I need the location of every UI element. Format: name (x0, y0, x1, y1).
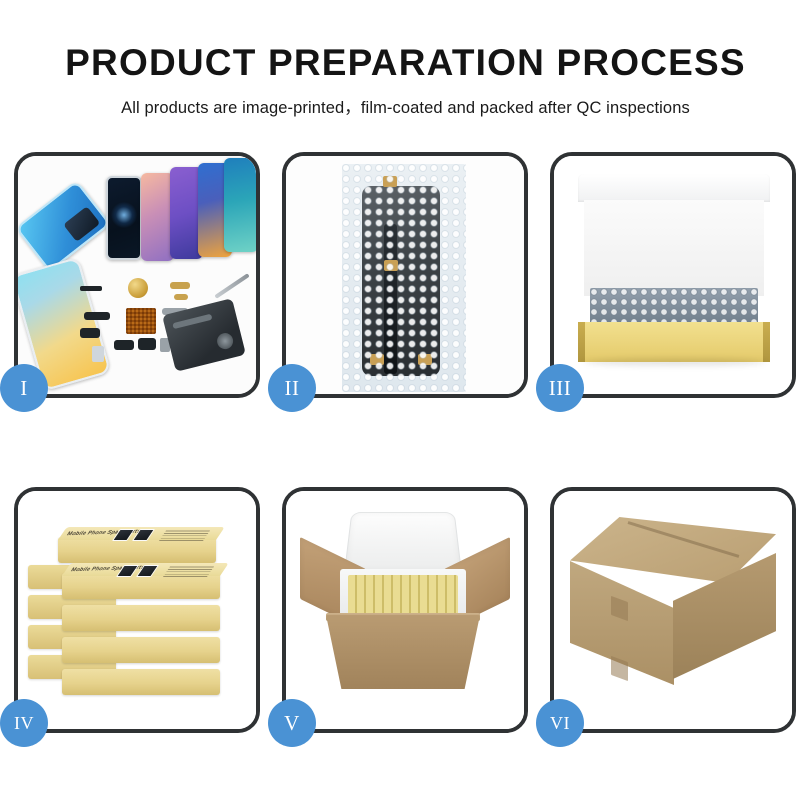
stacked-box-top: Mobile Phone Spare Parts (58, 537, 216, 563)
spare-parts-scene (18, 156, 256, 394)
bubble-wrap-bag (342, 164, 466, 392)
open-inner-box-scene (554, 156, 792, 394)
step-1-photo (18, 156, 256, 394)
screen-protector-blue (18, 180, 111, 272)
step-4-photo: Mobile Phone Spare Parts Mobile Phone Sp… (18, 491, 256, 729)
bubble-texture (342, 164, 466, 392)
flex-cable-part (80, 328, 100, 338)
stacked-box-second: Mobile Phone Spare Parts (62, 573, 220, 599)
gold-connector-part (170, 282, 190, 289)
box-shadow (584, 358, 766, 366)
step-2-photo (286, 156, 524, 394)
flex-cable-part (84, 312, 110, 320)
inner-boxes-contents (348, 575, 458, 617)
stacked-box-fifth (62, 669, 220, 695)
phone-screen-teal (224, 158, 256, 252)
sealed-carton-scene (554, 491, 792, 729)
step-badge-2: II (268, 364, 316, 412)
tweezers-tool (214, 273, 249, 299)
step-badge-3: III (536, 364, 584, 412)
process-step-panel-6[interactable]: VI (550, 487, 796, 733)
page-subtitle: All products are image-printed，film-coat… (0, 94, 811, 118)
bubble-wrap-contents (590, 288, 758, 326)
step-6-photo (554, 491, 792, 729)
bubble-wrap-scene (286, 156, 524, 394)
vibration-motor-part (128, 278, 148, 298)
foam-cooler-lid (344, 512, 462, 572)
page-title: PRODUCT PREPARATION PROCESS (0, 44, 811, 83)
step-badge-5: V (268, 699, 316, 747)
step-5-photo (286, 491, 524, 729)
product-preparation-page: PRODUCT PREPARATION PROCESS All products… (0, 0, 811, 811)
step-badge-6: VI (536, 699, 584, 747)
stacked-box-third (62, 605, 220, 631)
process-step-grid: I II (14, 152, 797, 733)
process-step-panel-3[interactable]: III (550, 152, 796, 398)
step-badge-4: IV (0, 699, 48, 747)
box-front-panel (578, 322, 770, 362)
sim-tray-part (92, 346, 104, 362)
process-step-panel-1[interactable]: I (14, 152, 260, 398)
step-3-photo (554, 156, 792, 394)
box-lid (578, 174, 770, 202)
gold-connector-part (174, 294, 188, 300)
process-step-panel-2[interactable]: II (282, 152, 528, 398)
carton-front-panel (326, 615, 480, 689)
cracked-black-screen (106, 176, 142, 260)
ic-chip-grid (126, 308, 156, 334)
earpiece-mesh-part (80, 286, 102, 291)
box-back-panel (584, 200, 764, 296)
box-spec-lines (163, 565, 215, 577)
step-badge-1: I (0, 364, 48, 412)
stacked-boxes-scene: Mobile Phone Spare Parts Mobile Phone Sp… (18, 491, 256, 729)
foam-carton-scene (286, 491, 524, 729)
header: PRODUCT PREPARATION PROCESS All products… (0, 0, 811, 118)
speaker-part (114, 340, 134, 350)
process-step-panel-5[interactable]: V (282, 487, 528, 733)
box-spec-lines (159, 529, 211, 541)
stacked-box-fourth (62, 637, 220, 663)
process-step-panel-4[interactable]: Mobile Phone Spare Parts Mobile Phone Sp… (14, 487, 260, 733)
camera-module-part (138, 338, 156, 350)
